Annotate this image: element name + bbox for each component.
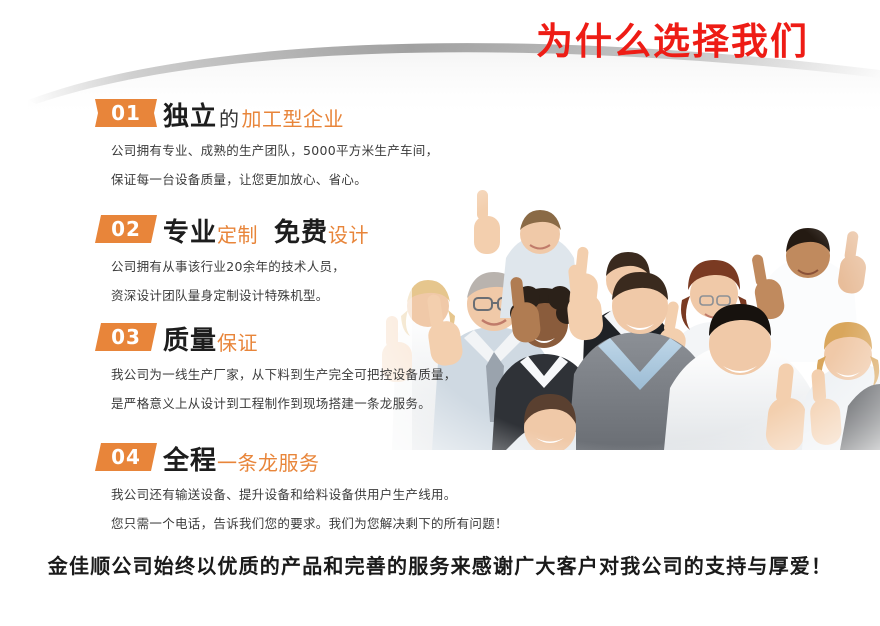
feature-title-main: 独立 <box>163 104 217 130</box>
feature-body-line: 我公司为一线生产厂家，从下料到生产完全可把控设备质量， <box>111 366 495 385</box>
feature-body: 我公司还有输送设备、提升设备和给料设备供用户生产线用。 您只需一个电话，告诉我们… <box>111 486 495 534</box>
feature-heading: 02 专业 定制 免费 设计 <box>95 210 495 246</box>
feature-number-badge: 01 <box>95 99 157 127</box>
feature-body-line: 您只需一个电话，告诉我们您的要求。我们为您解决剩下的所有问题！ <box>111 515 495 534</box>
feature-number-badge: 04 <box>95 443 157 471</box>
feature-title-accent-2: 设计 <box>328 225 369 246</box>
feature-title-accent: 加工型企业 <box>242 109 345 130</box>
feature-number: 01 <box>95 99 157 127</box>
feature-body-line: 公司拥有专业、成熟的生产团队，5000平方米生产车间， <box>111 142 495 161</box>
feature-title-accent: 定制 <box>217 225 258 246</box>
feature-title-link: 的 <box>217 109 242 130</box>
feature-title-accent: 保证 <box>217 333 258 354</box>
feature-number: 04 <box>95 443 157 471</box>
feature-item-04: 04 全程 一条龙服务 我公司还有输送设备、提升设备和给料设备供用户生产线用。 … <box>95 438 495 544</box>
feature-body-line: 保证每一台设备质量，让您更加放心、省心。 <box>111 171 495 190</box>
feature-number-badge: 02 <box>95 215 157 243</box>
feature-body-line: 公司拥有从事该行业20余年的技术人员， <box>111 258 495 277</box>
page-title: 为什么选择我们 <box>536 22 809 63</box>
feature-heading: 01 独立 的 加工型企业 <box>95 94 495 130</box>
feature-body: 公司拥有专业、成熟的生产团队，5000平方米生产车间， 保证每一台设备质量，让您… <box>111 142 495 190</box>
feature-title-main-2: 免费 <box>274 220 328 246</box>
feature-item-02: 02 专业 定制 免费 设计 公司拥有从事该行业20余年的技术人员， 资深设计团… <box>95 210 495 316</box>
feature-heading: 04 全程 一条龙服务 <box>95 438 495 474</box>
feature-title-main: 专业 <box>163 220 217 246</box>
feature-number: 03 <box>95 323 157 351</box>
footer-slogan: 金佳顺公司始终以优质的产品和完善的服务来感谢广大客户对我公司的支持与厚爱！ <box>0 550 880 579</box>
promo-banner: 为什么选择我们 <box>0 0 880 626</box>
feature-number-badge: 03 <box>95 323 157 351</box>
feature-item-03: 03 质量 保证 我公司为一线生产厂家，从下料到生产完全可把控设备质量， 是严格… <box>95 318 495 424</box>
feature-title-accent: 一条龙服务 <box>217 453 320 474</box>
feature-title-main: 全程 <box>163 448 217 474</box>
feature-number: 02 <box>95 215 157 243</box>
feature-heading: 03 质量 保证 <box>95 318 495 354</box>
feature-body-line: 资深设计团队量身定制设计特殊机型。 <box>111 287 495 306</box>
feature-body: 我公司为一线生产厂家，从下料到生产完全可把控设备质量， 是严格意义上从设计到工程… <box>111 366 495 414</box>
feature-body: 公司拥有从事该行业20余年的技术人员， 资深设计团队量身定制设计特殊机型。 <box>111 258 495 306</box>
feature-item-01: 01 独立 的 加工型企业 公司拥有专业、成熟的生产团队，5000平方米生产车间… <box>95 94 495 200</box>
feature-body-line: 我公司还有输送设备、提升设备和给料设备供用户生产线用。 <box>111 486 495 505</box>
feature-body-line: 是严格意义上从设计到工程制作到现场搭建一条龙服务。 <box>111 395 495 414</box>
feature-title-main: 质量 <box>163 328 217 354</box>
